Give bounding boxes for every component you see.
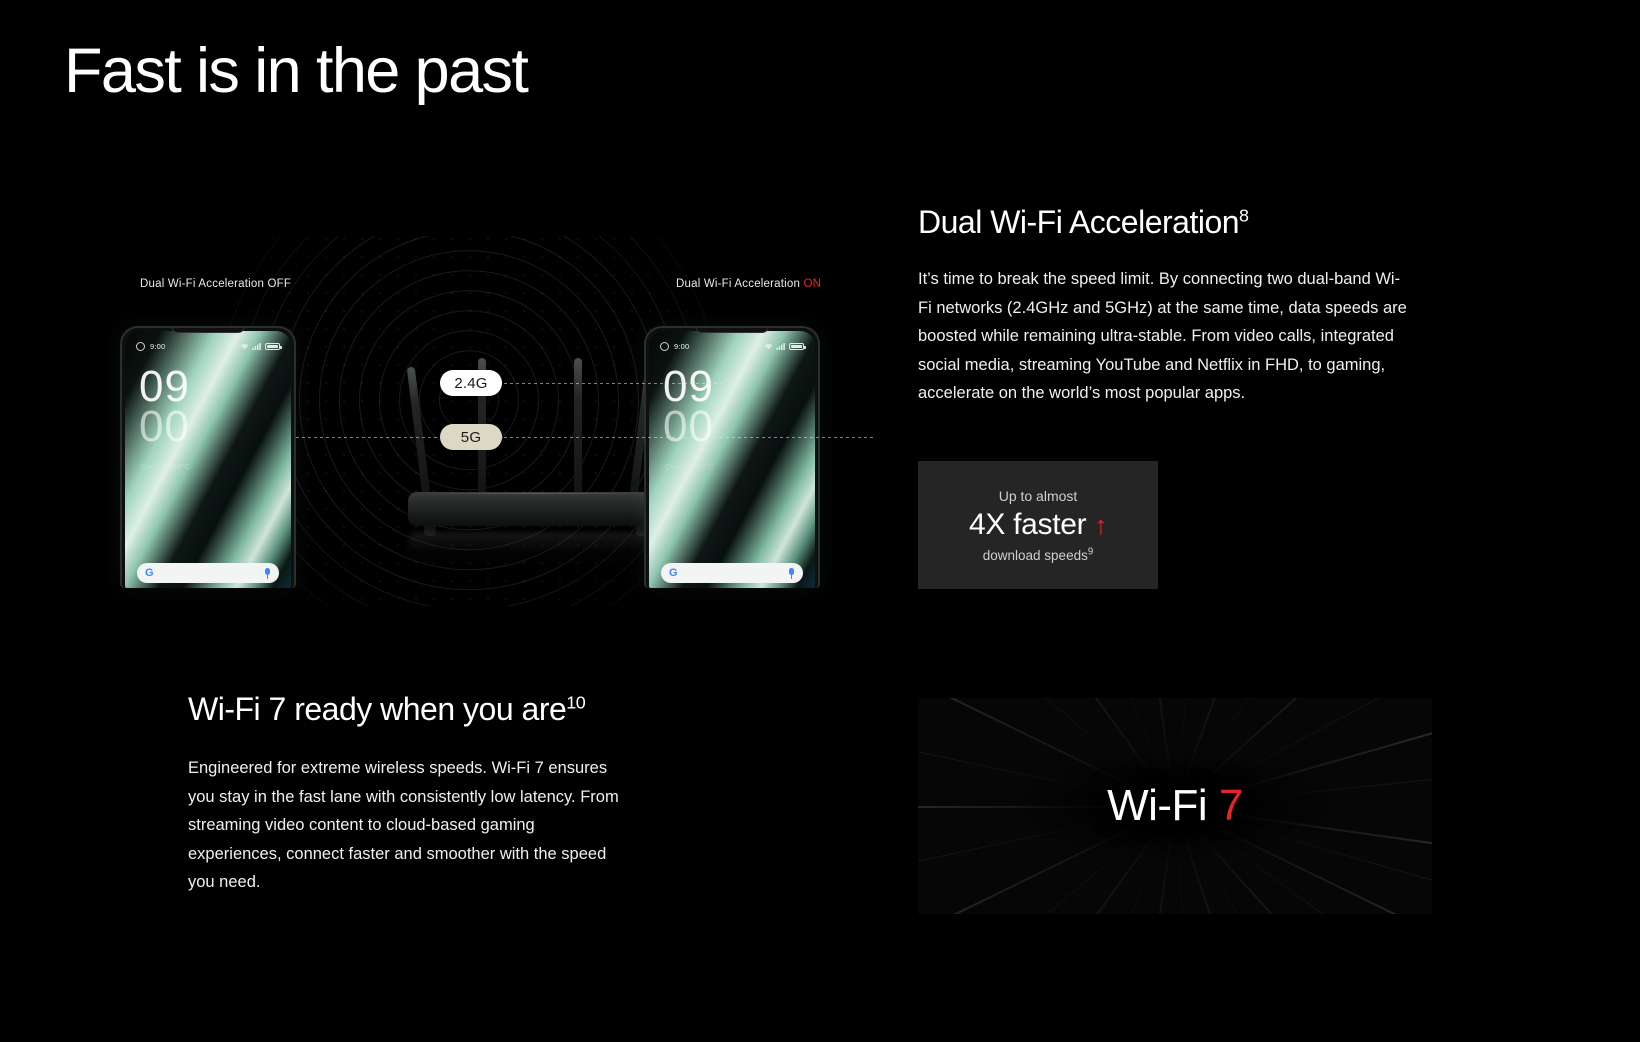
stat-card-caption-footnote: 9 xyxy=(1088,546,1093,557)
wifi7-section: Wi-Fi 7 ready when you are10 Engineered … xyxy=(188,690,658,896)
camera-punchhole-icon xyxy=(136,342,145,351)
dual-wifi-illustration: Dual Wi-Fi Acceleration OFF Dual Wi-Fi A… xyxy=(64,236,874,606)
battery-icon xyxy=(789,343,804,350)
router-reflection xyxy=(408,532,664,578)
band-pill-2-4g: 2.4G xyxy=(440,370,502,396)
status-bar: 9:00 xyxy=(125,340,291,353)
phone-notch-icon xyxy=(171,326,245,333)
stat-card-value-row: 4X faster ↑ xyxy=(969,508,1107,542)
dual-wifi-body: It’s time to break the speed limit. By c… xyxy=(918,265,1410,407)
arrow-up-icon: ↑ xyxy=(1094,512,1107,538)
wifi7-image-card: Wi-Fi 7 xyxy=(918,698,1432,914)
wifi7-caption-seven: 7 xyxy=(1219,781,1243,830)
phone-left-screen: 9:00 09 00 Overcast 16°C G xyxy=(125,331,291,588)
google-search-widget[interactable]: G xyxy=(661,563,803,583)
router-antenna-3 xyxy=(574,358,582,492)
wifi-icon xyxy=(240,343,249,350)
stat-card-download-speed: Up to almost 4X faster ↑ download speeds… xyxy=(918,461,1158,589)
phone-right: 9:00 09 00 Overcast 16°C G xyxy=(644,326,820,588)
stat-card-eyebrow: Up to almost xyxy=(999,488,1078,504)
wifi7-image-caption: Wi-Fi 7 xyxy=(918,781,1432,831)
google-g-icon: G xyxy=(669,568,678,579)
wifi7-heading-text: Wi-Fi 7 ready when you are xyxy=(188,691,566,727)
microphone-icon[interactable] xyxy=(788,568,795,579)
page-root: Fast is in the past Dual Wi-Fi Accelerat… xyxy=(0,0,1640,1042)
clock-minutes: 00 xyxy=(663,407,714,447)
phone-notch-icon xyxy=(695,326,769,333)
dual-wifi-heading-text: Dual Wi-Fi Acceleration xyxy=(918,204,1239,240)
dual-wifi-heading-footnote: 8 xyxy=(1239,205,1248,225)
phone-right-screen: 9:00 09 00 Overcast 16°C G xyxy=(649,331,815,588)
stat-card-caption: download speeds9 xyxy=(983,548,1094,563)
wifi7-heading-footnote: 10 xyxy=(566,692,585,712)
phone-left: 9:00 09 00 Overcast 16°C G xyxy=(120,326,296,588)
signal-icon xyxy=(776,343,786,350)
status-bar: 9:00 xyxy=(649,340,815,353)
wifi7-body: Engineered for extreme wireless speeds. … xyxy=(188,754,620,896)
wifi7-heading: Wi-Fi 7 ready when you are10 xyxy=(188,690,658,728)
label-acceleration-on: Dual Wi-Fi Acceleration ON xyxy=(676,278,821,290)
dual-wifi-heading: Dual Wi-Fi Acceleration8 xyxy=(918,203,1418,241)
dual-wifi-section: Dual Wi-Fi Acceleration8 It’s time to br… xyxy=(918,203,1418,407)
page-title: Fast is in the past xyxy=(64,38,527,105)
dotted-line-5g-right xyxy=(504,437,874,438)
dotted-line-24g-right xyxy=(504,383,722,384)
google-g-icon: G xyxy=(145,568,154,579)
wifi7-caption-prefix: Wi-Fi xyxy=(1107,781,1219,830)
battery-icon xyxy=(265,343,280,350)
router-body xyxy=(408,492,664,526)
status-time: 9:00 xyxy=(150,342,165,351)
clock-minutes: 00 xyxy=(139,407,190,447)
microphone-icon[interactable] xyxy=(264,568,271,579)
label-on-word: ON xyxy=(804,278,822,290)
lockscreen-weather: Overcast 16°C xyxy=(665,461,714,472)
status-time: 9:00 xyxy=(674,342,689,351)
lockscreen-weather: Overcast 16°C xyxy=(141,461,190,472)
lockscreen-clock: 09 00 xyxy=(663,367,714,448)
wifi-icon xyxy=(764,343,773,350)
lockscreen-clock: 09 00 xyxy=(139,367,190,448)
signal-icon xyxy=(252,343,262,350)
stat-card-value: 4X faster xyxy=(969,508,1086,542)
label-on-prefix: Dual Wi-Fi Acceleration xyxy=(676,278,804,290)
clock-hours: 09 xyxy=(663,367,714,407)
band-pill-5g: 5G xyxy=(440,424,502,450)
label-acceleration-off: Dual Wi-Fi Acceleration OFF xyxy=(140,278,291,290)
stat-card-caption-text: download speeds xyxy=(983,548,1088,563)
camera-punchhole-icon xyxy=(660,342,669,351)
clock-hours: 09 xyxy=(139,367,190,407)
google-search-widget[interactable]: G xyxy=(137,563,279,583)
